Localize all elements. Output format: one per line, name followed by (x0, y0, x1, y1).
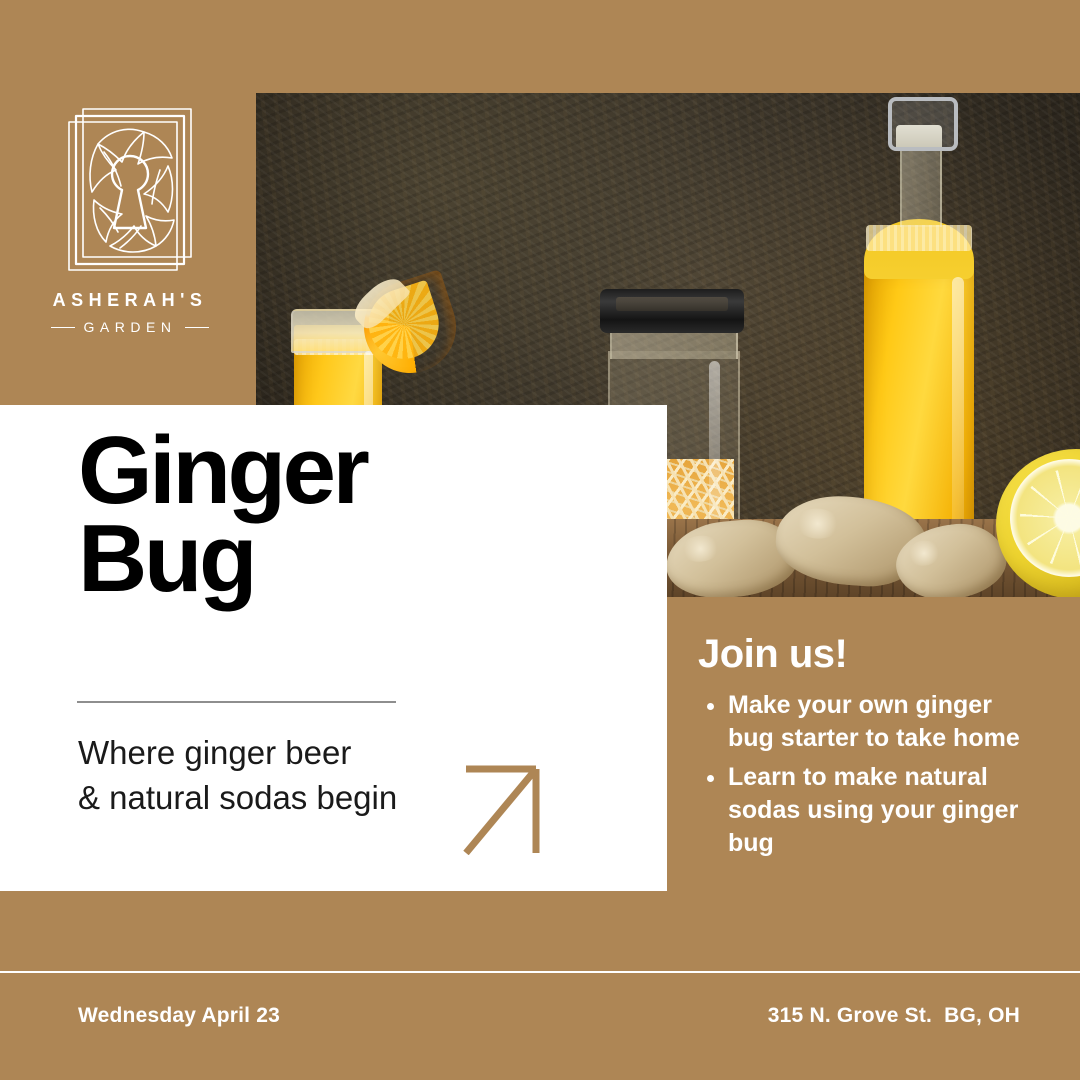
bottle-clamp (888, 97, 958, 151)
page-title: Ginger Bug (78, 427, 638, 604)
list-item: Learn to make natural sodas using your g… (728, 761, 1038, 860)
brand-sub-label: GARDEN (84, 319, 177, 335)
join-us-heading: Join us! (698, 632, 1038, 677)
poster: ASHERAH'S GARDEN Ginger Bug Where ginger… (0, 0, 1080, 1080)
brand-name: ASHERAH'S (30, 290, 230, 311)
dash-left (51, 327, 75, 328)
event-address: 315 N. Grove St. BG, OH (768, 1004, 1020, 1028)
arrow-up-right-icon (462, 765, 540, 855)
brand-logo: ASHERAH'S GARDEN (30, 104, 230, 344)
event-date: Wednesday April 23 (78, 1004, 280, 1028)
join-us-panel: Join us! Make your own ginger bug starte… (698, 632, 1038, 866)
footer-divider (0, 971, 1080, 973)
jar-lid (600, 289, 744, 333)
dash-right (185, 327, 209, 328)
brand-sub: GARDEN (30, 319, 230, 335)
subtitle: Where ginger beer & natural sodas begin (78, 731, 478, 821)
title-divider (77, 701, 396, 703)
join-us-list: Make your own ginger bug starter to take… (698, 689, 1038, 860)
bottle-neck (900, 143, 942, 227)
keyhole-botanical-frame-icon (64, 104, 196, 282)
list-item: Make your own ginger bug starter to take… (728, 689, 1038, 755)
jar-neck (610, 329, 738, 359)
bottle-fizz (866, 225, 972, 251)
title-card: Ginger Bug Where ginger beer & natural s… (0, 405, 667, 891)
